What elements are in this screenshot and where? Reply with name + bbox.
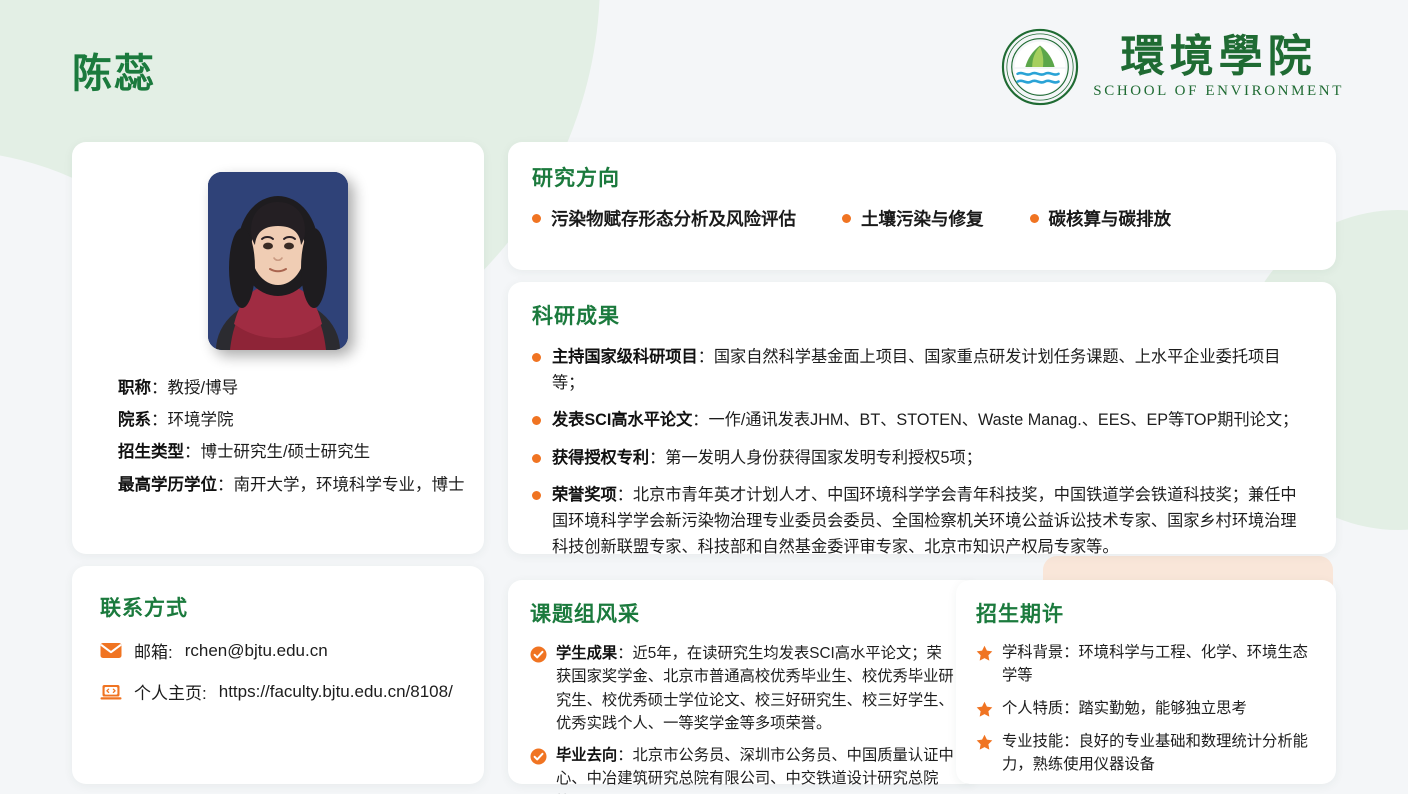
admission-item: 个人特质：踏实勤勉，能够独立思考 bbox=[976, 698, 1316, 721]
admission-card: 招生期许 学科背景：环境科学与工程、化学、环境生态学等 个人特质：踏实勤勉，能够… bbox=[956, 580, 1336, 784]
envelope-icon bbox=[100, 641, 122, 661]
achievement-label: 发表SCI高水平论文 bbox=[552, 411, 692, 429]
faculty-profile-poster: 陈蕊 環境學院 SCHOOL OF ENVIRONMENT bbox=[0, 0, 1408, 794]
profile-card: 职称：教授/博导 院系：环境学院 招生类型：博士研究生/硕士研究生 最高学历学位… bbox=[72, 142, 484, 554]
research-direction-item: 污染物赋存形态分析及风险评估 bbox=[532, 206, 796, 231]
profile-label: 职称 bbox=[118, 379, 151, 397]
achievement-label: 获得授权专利 bbox=[552, 449, 649, 467]
contact-title: 联系方式 bbox=[100, 592, 456, 622]
bullet-dot-icon bbox=[1030, 214, 1039, 223]
admission-item: 学科背景：环境科学与工程、化学、环境生态学等 bbox=[976, 642, 1316, 688]
research-direction-label: 碳核算与碳排放 bbox=[1049, 206, 1172, 231]
admission-text: 专业技能：良好的专业基础和数理统计分析能力，熟练使用仪器设备 bbox=[1002, 731, 1316, 777]
achievement-text: 获得授权专利：第一发明人身份获得国家发明专利授权5项； bbox=[552, 445, 982, 471]
profile-sep: ： bbox=[184, 443, 201, 461]
achievement-label: 荣誉奖项 bbox=[552, 486, 617, 504]
team-item: 学生成果：近5年，在读研究生均发表SCI高水平论文；荣获国家奖学金、北京市普通高… bbox=[530, 642, 956, 735]
research-direction-label: 土壤污染与修复 bbox=[861, 206, 984, 231]
research-direction-item: 碳核算与碳排放 bbox=[1030, 206, 1172, 231]
profile-label: 院系 bbox=[118, 411, 151, 429]
profile-sep: ： bbox=[151, 411, 168, 429]
achievement-text: 荣誉奖项：北京市青年英才计划人才、中国环境科学学会青年科技奖，中国铁道学会铁道科… bbox=[552, 482, 1312, 561]
bullet-dot-icon bbox=[532, 491, 541, 500]
bjtu-school-of-environment-emblem-icon bbox=[1001, 28, 1079, 106]
contact-email-label: 邮箱: bbox=[134, 638, 173, 663]
team-text: 学生成果：近5年，在读研究生均发表SCI高水平论文；荣获国家奖学金、北京市普通高… bbox=[556, 642, 956, 735]
achievement-body: ：一作/通讯发表JHM、BT、STOTEN、Waste Manag.、EES、E… bbox=[692, 411, 1298, 429]
team-card: 课题组风采 学生成果：近5年，在读研究生均发表SCI高水平论文；荣获国家奖学金、… bbox=[508, 580, 978, 784]
profile-label: 最高学历学位 bbox=[118, 476, 217, 494]
profile-label: 招生类型 bbox=[118, 443, 184, 461]
bullet-dot-icon bbox=[532, 214, 541, 223]
team-title: 课题组风采 bbox=[530, 598, 956, 628]
school-name-cn: 環境學院 bbox=[1121, 34, 1317, 80]
team-label: 学生成果 bbox=[556, 645, 617, 662]
profile-info-row: 最高学历学位：南开大学，环境科学专业，博士 bbox=[118, 469, 460, 501]
school-logo: 環境學院 SCHOOL OF ENVIRONMENT bbox=[1001, 28, 1344, 106]
admission-title: 招生期许 bbox=[976, 598, 1316, 628]
star-icon bbox=[976, 734, 993, 751]
profile-info-row: 职称：教授/博导 bbox=[118, 372, 460, 404]
research-direction-item: 土壤污染与修复 bbox=[842, 206, 984, 231]
achievement-item: 主持国家级科研项目：国家自然科学基金面上项目、国家重点研发计划任务课题、上水平企… bbox=[532, 344, 1312, 396]
bullet-dot-icon bbox=[532, 353, 541, 362]
check-circle-icon bbox=[530, 646, 547, 663]
profile-value: 博士研究生/硕士研究生 bbox=[201, 443, 371, 461]
achievements-card: 科研成果 主持国家级科研项目：国家自然科学基金面上项目、国家重点研发计划任务课题… bbox=[508, 282, 1336, 554]
profile-sep: ： bbox=[151, 379, 168, 397]
achievement-label: 主持国家级科研项目 bbox=[552, 348, 698, 366]
bullet-dot-icon bbox=[532, 416, 541, 425]
profile-value: 环境学院 bbox=[168, 411, 234, 429]
contact-email-value[interactable]: rchen@bjtu.edu.cn bbox=[185, 641, 328, 661]
achievement-text: 发表SCI高水平论文：一作/通讯发表JHM、BT、STOTEN、Waste Ma… bbox=[552, 407, 1298, 433]
research-directions-title: 研究方向 bbox=[532, 162, 1312, 192]
achievement-body: ：北京市青年英才计划人才、中国环境科学学会青年科技奖，中国铁道学会铁道科技奖；兼… bbox=[552, 486, 1297, 556]
achievement-body: ：第一发明人身份获得国家发明专利授权5项； bbox=[649, 449, 982, 467]
contact-email-row[interactable]: 邮箱: rchen@bjtu.edu.cn bbox=[100, 638, 456, 663]
profile-info-row: 院系：环境学院 bbox=[118, 404, 460, 436]
profile-sep: ： bbox=[217, 476, 234, 494]
bullet-dot-icon bbox=[532, 454, 541, 463]
star-icon bbox=[976, 701, 993, 718]
achievement-item: 发表SCI高水平论文：一作/通讯发表JHM、BT、STOTEN、Waste Ma… bbox=[532, 407, 1312, 433]
profile-value: 南开大学，环境科学专业，博士 bbox=[234, 476, 465, 494]
achievement-item: 荣誉奖项：北京市青年英才计划人才、中国环境科学学会青年科技奖，中国铁道学会铁道科… bbox=[532, 482, 1312, 561]
achievements-title: 科研成果 bbox=[532, 300, 1312, 330]
team-label: 毕业去向 bbox=[556, 747, 617, 764]
achievement-item: 获得授权专利：第一发明人身份获得国家发明专利授权5项； bbox=[532, 445, 1312, 471]
profile-value: 教授/博导 bbox=[168, 379, 239, 397]
avatar-wrapper bbox=[96, 172, 460, 350]
admission-text: 个人特质：踏实勤勉，能够独立思考 bbox=[1002, 698, 1247, 721]
research-directions-card: 研究方向 污染物赋存形态分析及风险评估 土壤污染与修复 碳核算与碳排放 bbox=[508, 142, 1336, 270]
contact-homepage-label: 个人主页: bbox=[134, 679, 207, 704]
admission-text: 学科背景：环境科学与工程、化学、环境生态学等 bbox=[1002, 642, 1316, 688]
admission-item: 专业技能：良好的专业基础和数理统计分析能力，熟练使用仪器设备 bbox=[976, 731, 1316, 777]
team-item: 毕业去向：北京市公务员、深圳市公务员、中国质量认证中心、中冶建筑研究总院有限公司… bbox=[530, 744, 956, 794]
page-title: 陈蕊 bbox=[72, 52, 156, 96]
profile-info-list: 职称：教授/博导 院系：环境学院 招生类型：博士研究生/硕士研究生 最高学历学位… bbox=[96, 372, 460, 501]
contact-card: 联系方式 邮箱: rchen@bjtu.edu.cn 个人主页: bbox=[72, 566, 484, 784]
research-direction-label: 污染物赋存形态分析及风险评估 bbox=[551, 206, 796, 231]
star-icon bbox=[976, 645, 993, 662]
contact-homepage-value[interactable]: https://faculty.bjtu.edu.cn/8108/ bbox=[219, 682, 453, 702]
page-header: 陈蕊 環境學院 SCHOOL OF ENVIRONMENT bbox=[0, 0, 1408, 142]
achievement-text: 主持国家级科研项目：国家自然科学基金面上项目、国家重点研发计划任务课题、上水平企… bbox=[552, 344, 1312, 396]
profile-info-row: 招生类型：博士研究生/硕士研究生 bbox=[118, 436, 460, 468]
bullet-dot-icon bbox=[842, 214, 851, 223]
contact-homepage-row[interactable]: 个人主页: https://faculty.bjtu.edu.cn/8108/ bbox=[100, 679, 456, 704]
school-name-en: SCHOOL OF ENVIRONMENT bbox=[1093, 83, 1344, 100]
research-directions-list: 污染物赋存形态分析及风险评估 土壤污染与修复 碳核算与碳排放 bbox=[532, 206, 1312, 231]
team-text: 毕业去向：北京市公务员、深圳市公务员、中国质量认证中心、中冶建筑研究总院有限公司… bbox=[556, 744, 956, 794]
avatar bbox=[208, 172, 348, 350]
check-circle-icon bbox=[530, 748, 547, 765]
laptop-code-icon bbox=[100, 682, 122, 702]
